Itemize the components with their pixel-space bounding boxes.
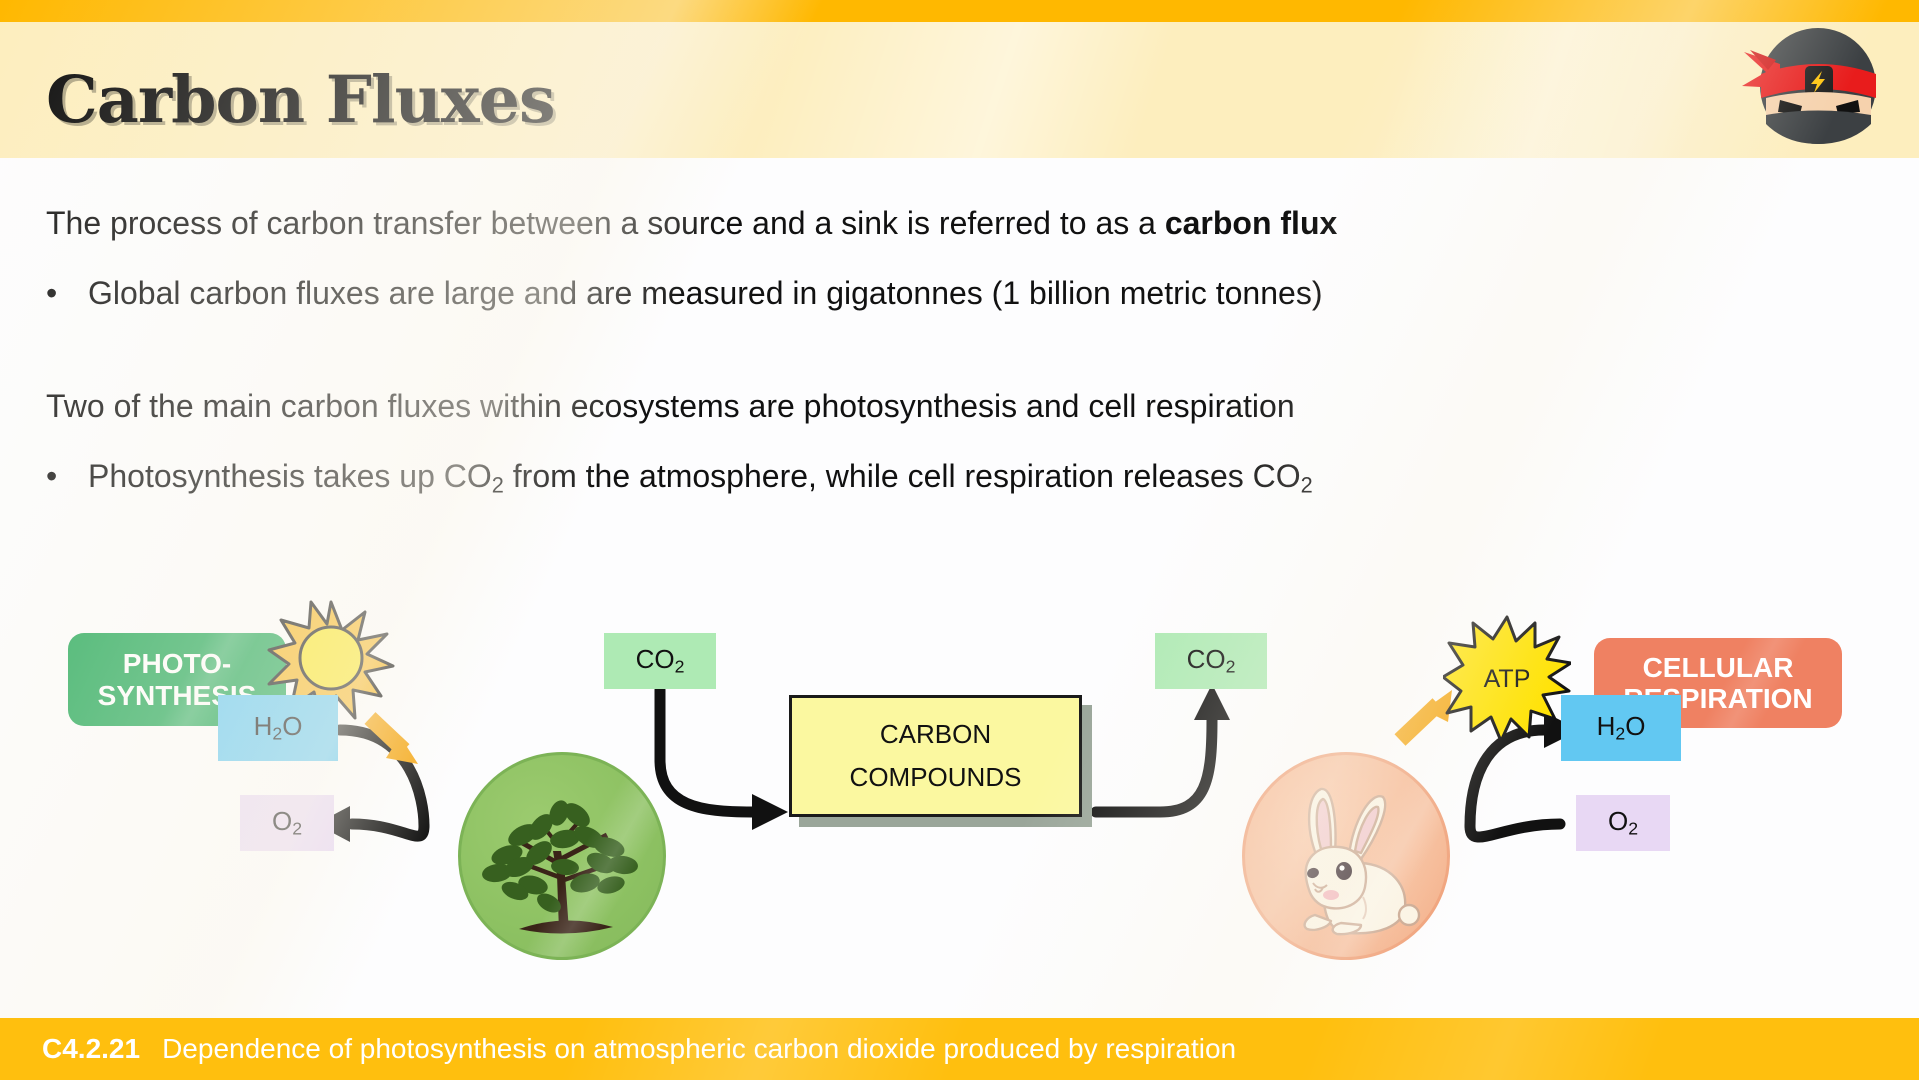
bullet-marker-1: • (46, 275, 57, 312)
footer-syllabus-text: Dependence of photosynthesis on atmosphe… (162, 1033, 1236, 1065)
slide-header: Carbon Fluxes (0, 22, 1919, 158)
h2o-left-sub: 2 (272, 724, 282, 744)
h2o-right-text: H (1597, 711, 1616, 741)
page-title: Carbon Fluxes (46, 62, 555, 138)
carbon-flux-diagram: PHOTO- SYNTHESIS H2O O2 (0, 600, 1919, 1000)
carbon-compounds-line2: COMPOUNDS (850, 762, 1022, 793)
bullet-2-sub-a: 2 (492, 472, 504, 497)
o2-box-left: O2 (240, 795, 334, 851)
paragraph-1: The process of carbon transfer between a… (46, 205, 1337, 242)
slide: Carbon Fluxes The process of carbon tran… (0, 0, 1919, 1080)
o2-left-text: O (272, 806, 292, 836)
paragraph-1-text: The process of carbon transfer between a… (46, 205, 1165, 241)
paragraph-1-bold-term: carbon flux (1165, 205, 1337, 241)
tree-icon (458, 752, 666, 960)
co2-box-right: CO2 (1155, 633, 1267, 689)
h2o-left-tail: O (282, 711, 302, 741)
h2o-right-sub: 2 (1615, 724, 1625, 744)
h2o-right-tail: O (1625, 711, 1645, 741)
o2-box-right: O2 (1576, 795, 1670, 851)
o2-right-text: O (1608, 806, 1628, 836)
carbon-compounds-line1: CARBON (880, 719, 991, 750)
bullet-2-part-b: from the atmosphere, while cell respirat… (504, 458, 1301, 494)
atp-label-text: ATP (1484, 665, 1531, 694)
ninja-head-logo (1740, 24, 1880, 150)
rabbit-icon (1242, 752, 1450, 960)
co2-left-sub: 2 (675, 657, 685, 677)
h2o-box-right: H2O (1561, 695, 1681, 761)
h2o-left-text: H (254, 711, 273, 741)
carbon-compounds-box: CARBON COMPOUNDS (789, 695, 1082, 817)
respiration-label-line1: CELLULAR (1623, 652, 1812, 683)
bullet-marker-2: • (46, 458, 57, 495)
footer-syllabus-code: C4.2.21 (42, 1033, 140, 1065)
o2-left-sub: 2 (292, 819, 302, 839)
co2-left-text: CO (636, 644, 675, 674)
top-accent-bar (0, 0, 1919, 22)
co2-right-sub: 2 (1226, 657, 1236, 677)
atp-label: ATP (1443, 615, 1571, 743)
h2o-box-left: H2O (218, 695, 338, 761)
bullet-2-part-a: Photosynthesis takes up CO (88, 458, 492, 494)
bullet-2: Photosynthesis takes up CO2 from the atm… (88, 458, 1313, 498)
co2-box-left: CO2 (604, 633, 716, 689)
bullet-2-sub-b: 2 (1301, 472, 1313, 497)
o2-right-sub: 2 (1628, 819, 1638, 839)
bullet-1: Global carbon fluxes are large and are m… (88, 275, 1322, 312)
photosynthesis-label-line1: PHOTO- (98, 648, 257, 679)
co2-right-text: CO (1187, 644, 1226, 674)
slide-footer: C4.2.21 Dependence of photosynthesis on … (0, 1018, 1919, 1080)
paragraph-2: Two of the main carbon fluxes within eco… (46, 388, 1295, 425)
